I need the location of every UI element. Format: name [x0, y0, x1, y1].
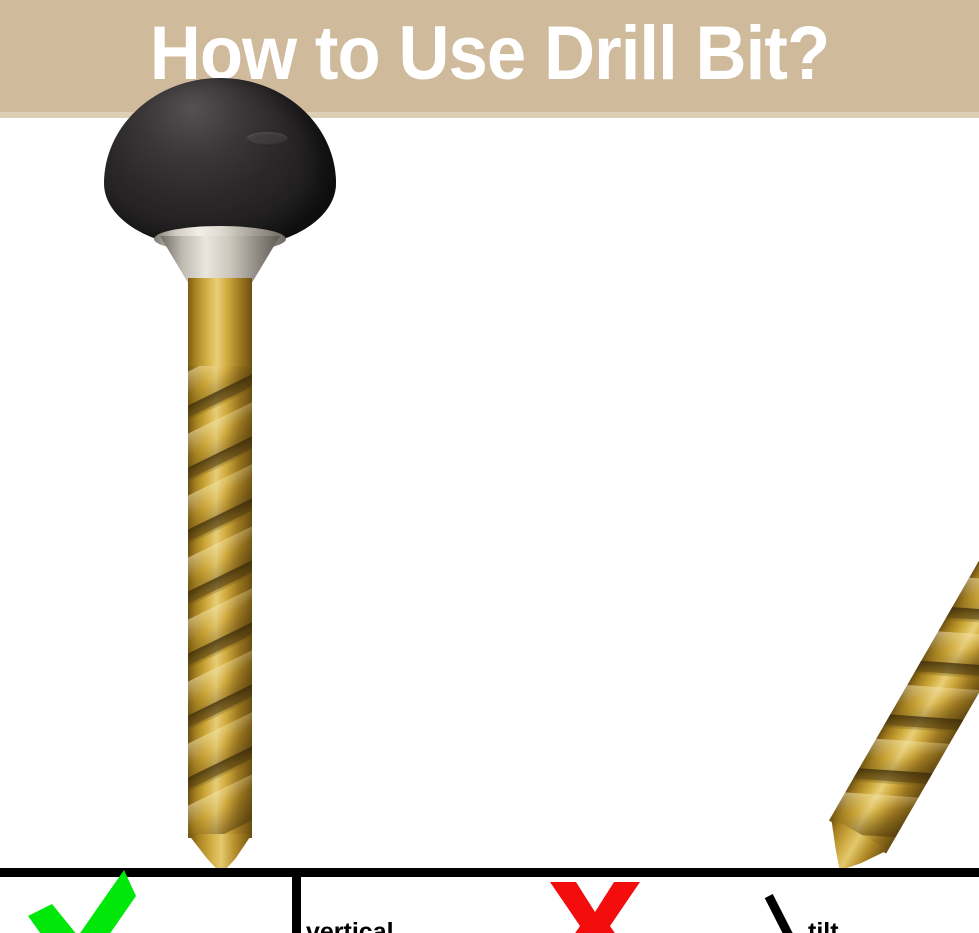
illustration-stage: vertical tilt	[0, 118, 979, 933]
drill-tilted-incorrect	[640, 106, 979, 933]
green-check-icon	[22, 870, 140, 933]
drill-vertical-correct	[100, 118, 340, 878]
drill-bit-flutes-left	[188, 366, 252, 838]
vertical-label: vertical	[306, 918, 394, 933]
drill-bit-instruction-graphic: How to Use Drill Bit?	[0, 0, 979, 933]
work-surface-bar	[0, 868, 979, 877]
tilt-label: tilt	[808, 918, 839, 933]
drill-bit-shank-left	[188, 278, 252, 370]
red-cross-icon	[548, 880, 642, 933]
right-angle-vertical-leg	[292, 874, 301, 933]
drill-bit-flutes-right	[829, 465, 979, 853]
chuck-logo-emboss	[246, 132, 288, 146]
chuck-collet-left	[160, 236, 280, 284]
